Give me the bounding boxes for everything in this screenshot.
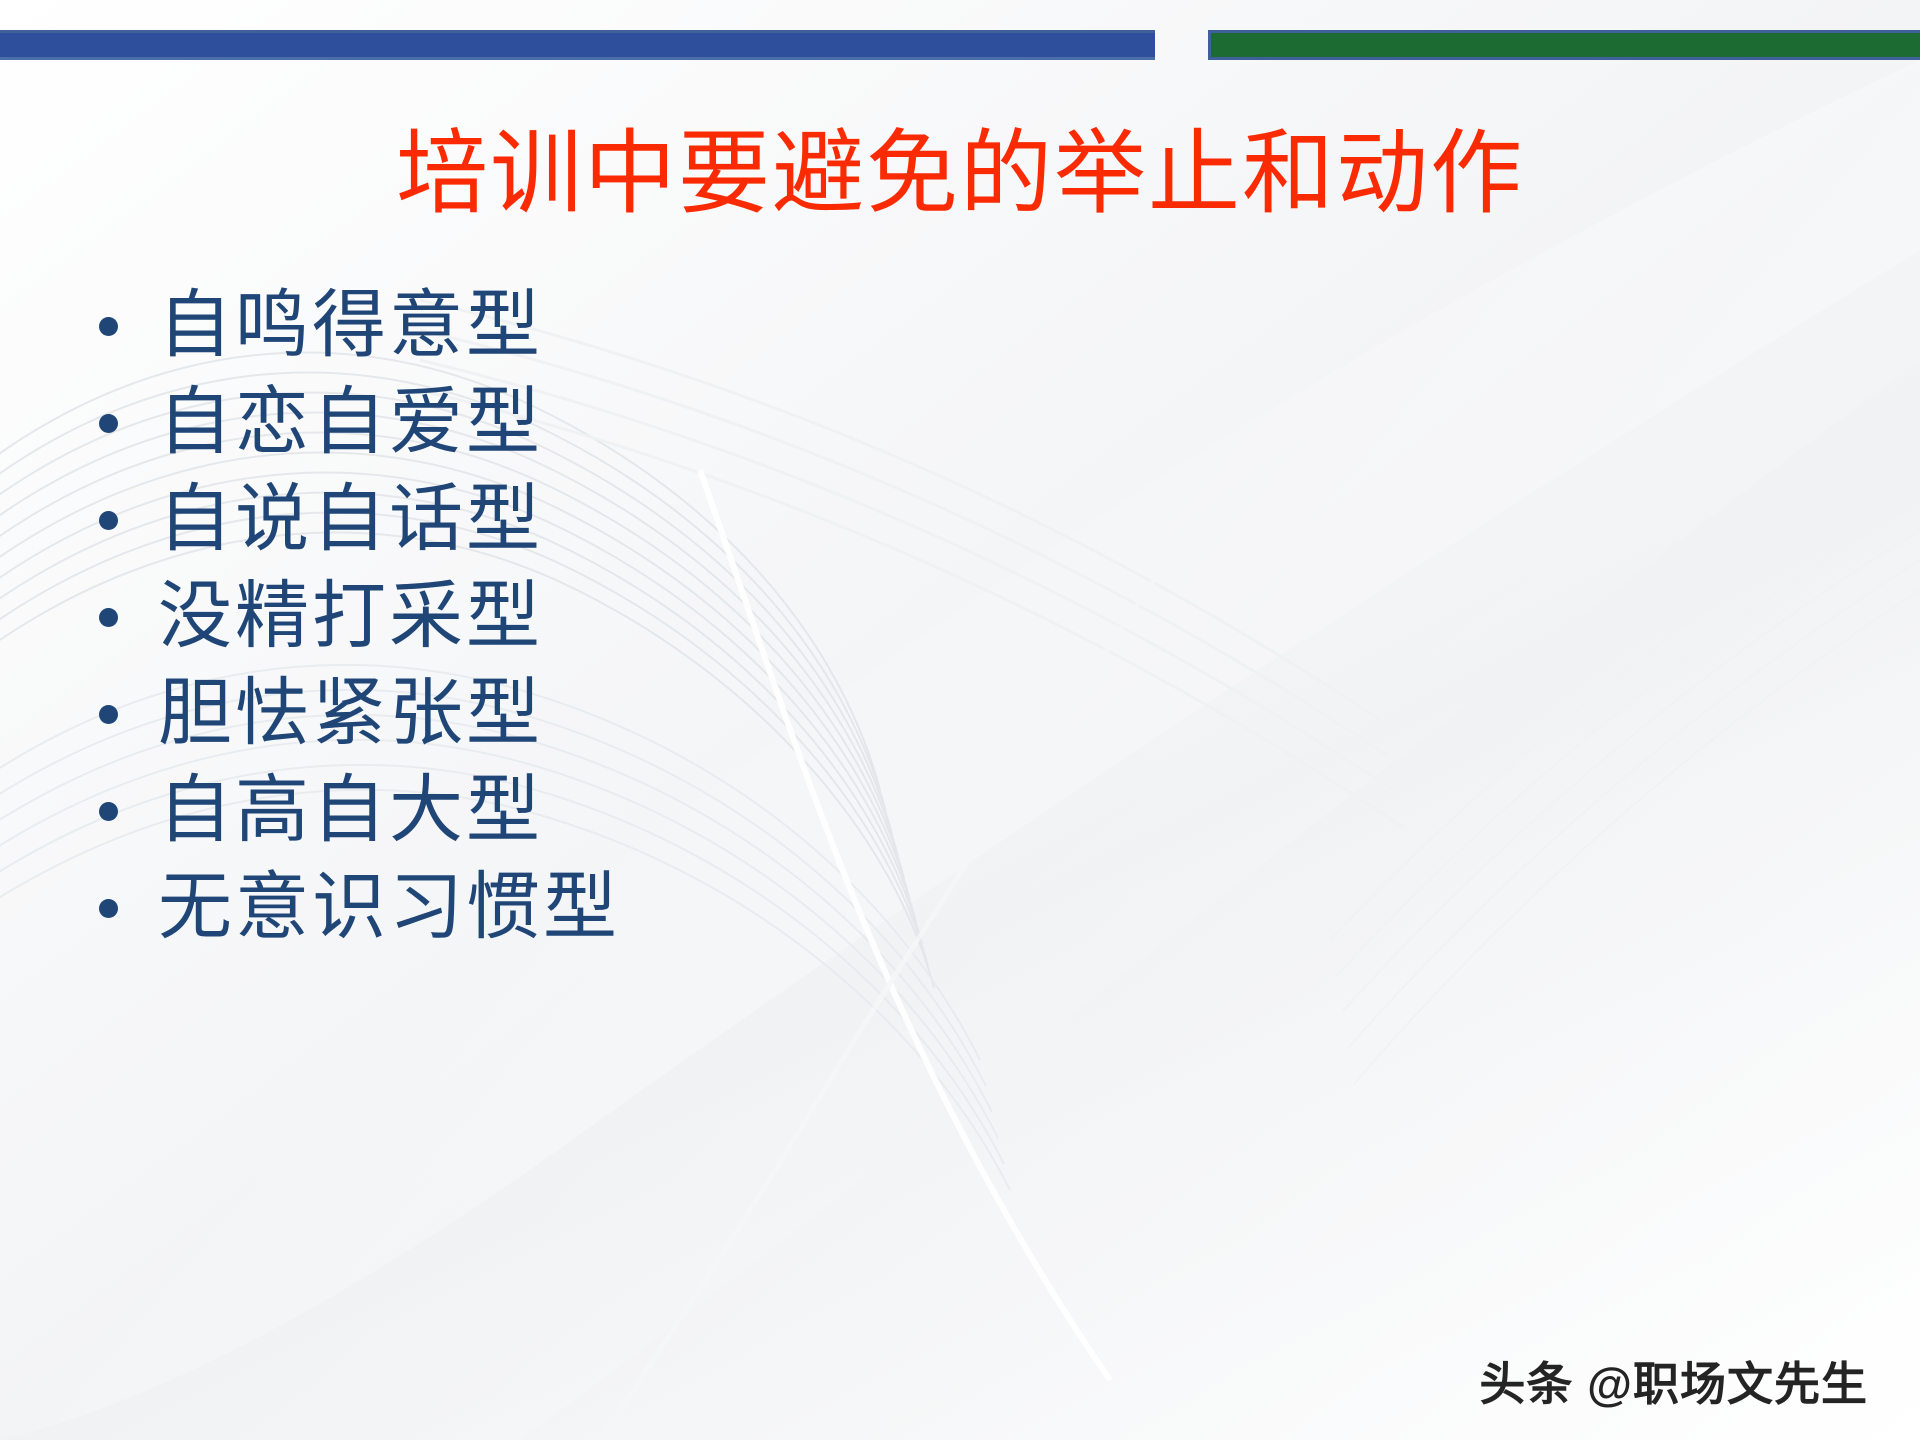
bullet-dot-icon: [96, 705, 120, 724]
list-item-label: 自恋自爱型: [158, 386, 543, 460]
top-accent-bars: [0, 0, 1920, 80]
list-item-label: 胆怯紧张型: [158, 677, 543, 751]
list-item: 自恋自爱型: [96, 375, 1396, 471]
list-item-label: 自鸣得意型: [158, 289, 543, 363]
slide-canvas: 培训中要避免的举止和动作 自鸣得意型 自恋自爱型 自说自话型 没精打采型 胆怯紧…: [0, 0, 1920, 1440]
top-bar-blue: [0, 30, 1155, 60]
list-item: 自高自大型: [96, 763, 1396, 859]
list-item: 没精打采型: [96, 569, 1396, 665]
list-item: 无意识习惯型: [96, 860, 1396, 956]
bullet-dot-icon: [96, 608, 120, 627]
watermark: 头条 @职场文先生: [1479, 1348, 1868, 1414]
bullet-dot-icon: [96, 511, 120, 530]
list-item: 自鸣得意型: [96, 278, 1396, 374]
list-item-label: 自高自大型: [158, 774, 543, 848]
list-item-label: 无意识习惯型: [158, 871, 620, 945]
list-item-label: 自说自话型: [158, 483, 543, 557]
list-item-label: 没精打采型: [158, 580, 543, 654]
bullet-dot-icon: [96, 802, 120, 821]
top-bar-green: [1208, 30, 1920, 60]
slide-title: 培训中要避免的举止和动作: [0, 128, 1920, 220]
bullet-dot-icon: [96, 317, 120, 336]
bullet-dot-icon: [96, 414, 120, 433]
list-item: 自说自话型: [96, 472, 1396, 568]
bullet-dot-icon: [96, 899, 120, 918]
bullet-list: 自鸣得意型 自恋自爱型 自说自话型 没精打采型 胆怯紧张型 自高自大型 无意识习…: [96, 278, 1396, 957]
list-item: 胆怯紧张型: [96, 666, 1396, 762]
